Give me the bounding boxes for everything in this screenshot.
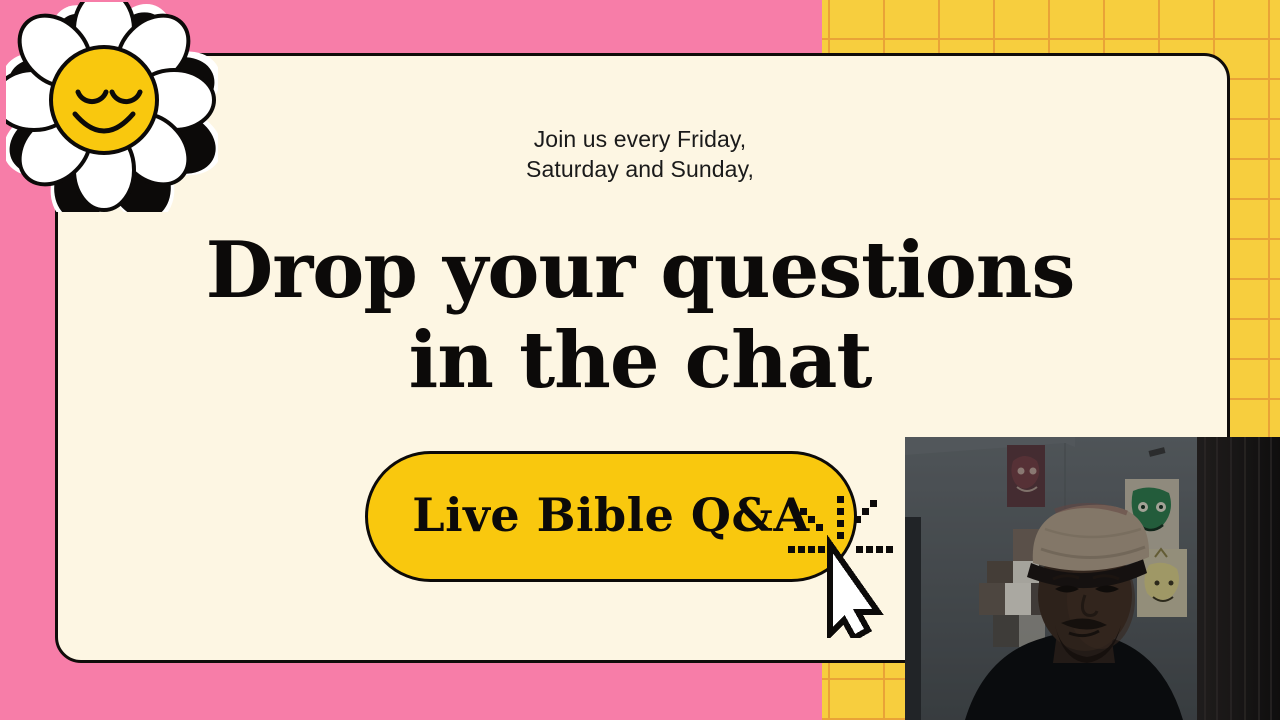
webcam-overlay[interactable]: [905, 437, 1280, 720]
daisy-smiley-icon: [6, 2, 218, 212]
headline-line-1: Drop your questions: [0, 226, 1280, 316]
cta-button-label: Live Bible Q&A: [412, 488, 809, 542]
pixel-arrow-cursor-icon: [786, 494, 906, 638]
live-bible-qa-button[interactable]: Live Bible Q&A: [365, 451, 857, 582]
headline-text: Drop your questions in the chat: [0, 226, 1280, 406]
headline-line-2: in the chat: [0, 316, 1280, 406]
slide-canvas: Join us every Friday, Saturday and Sunda…: [0, 0, 1280, 720]
